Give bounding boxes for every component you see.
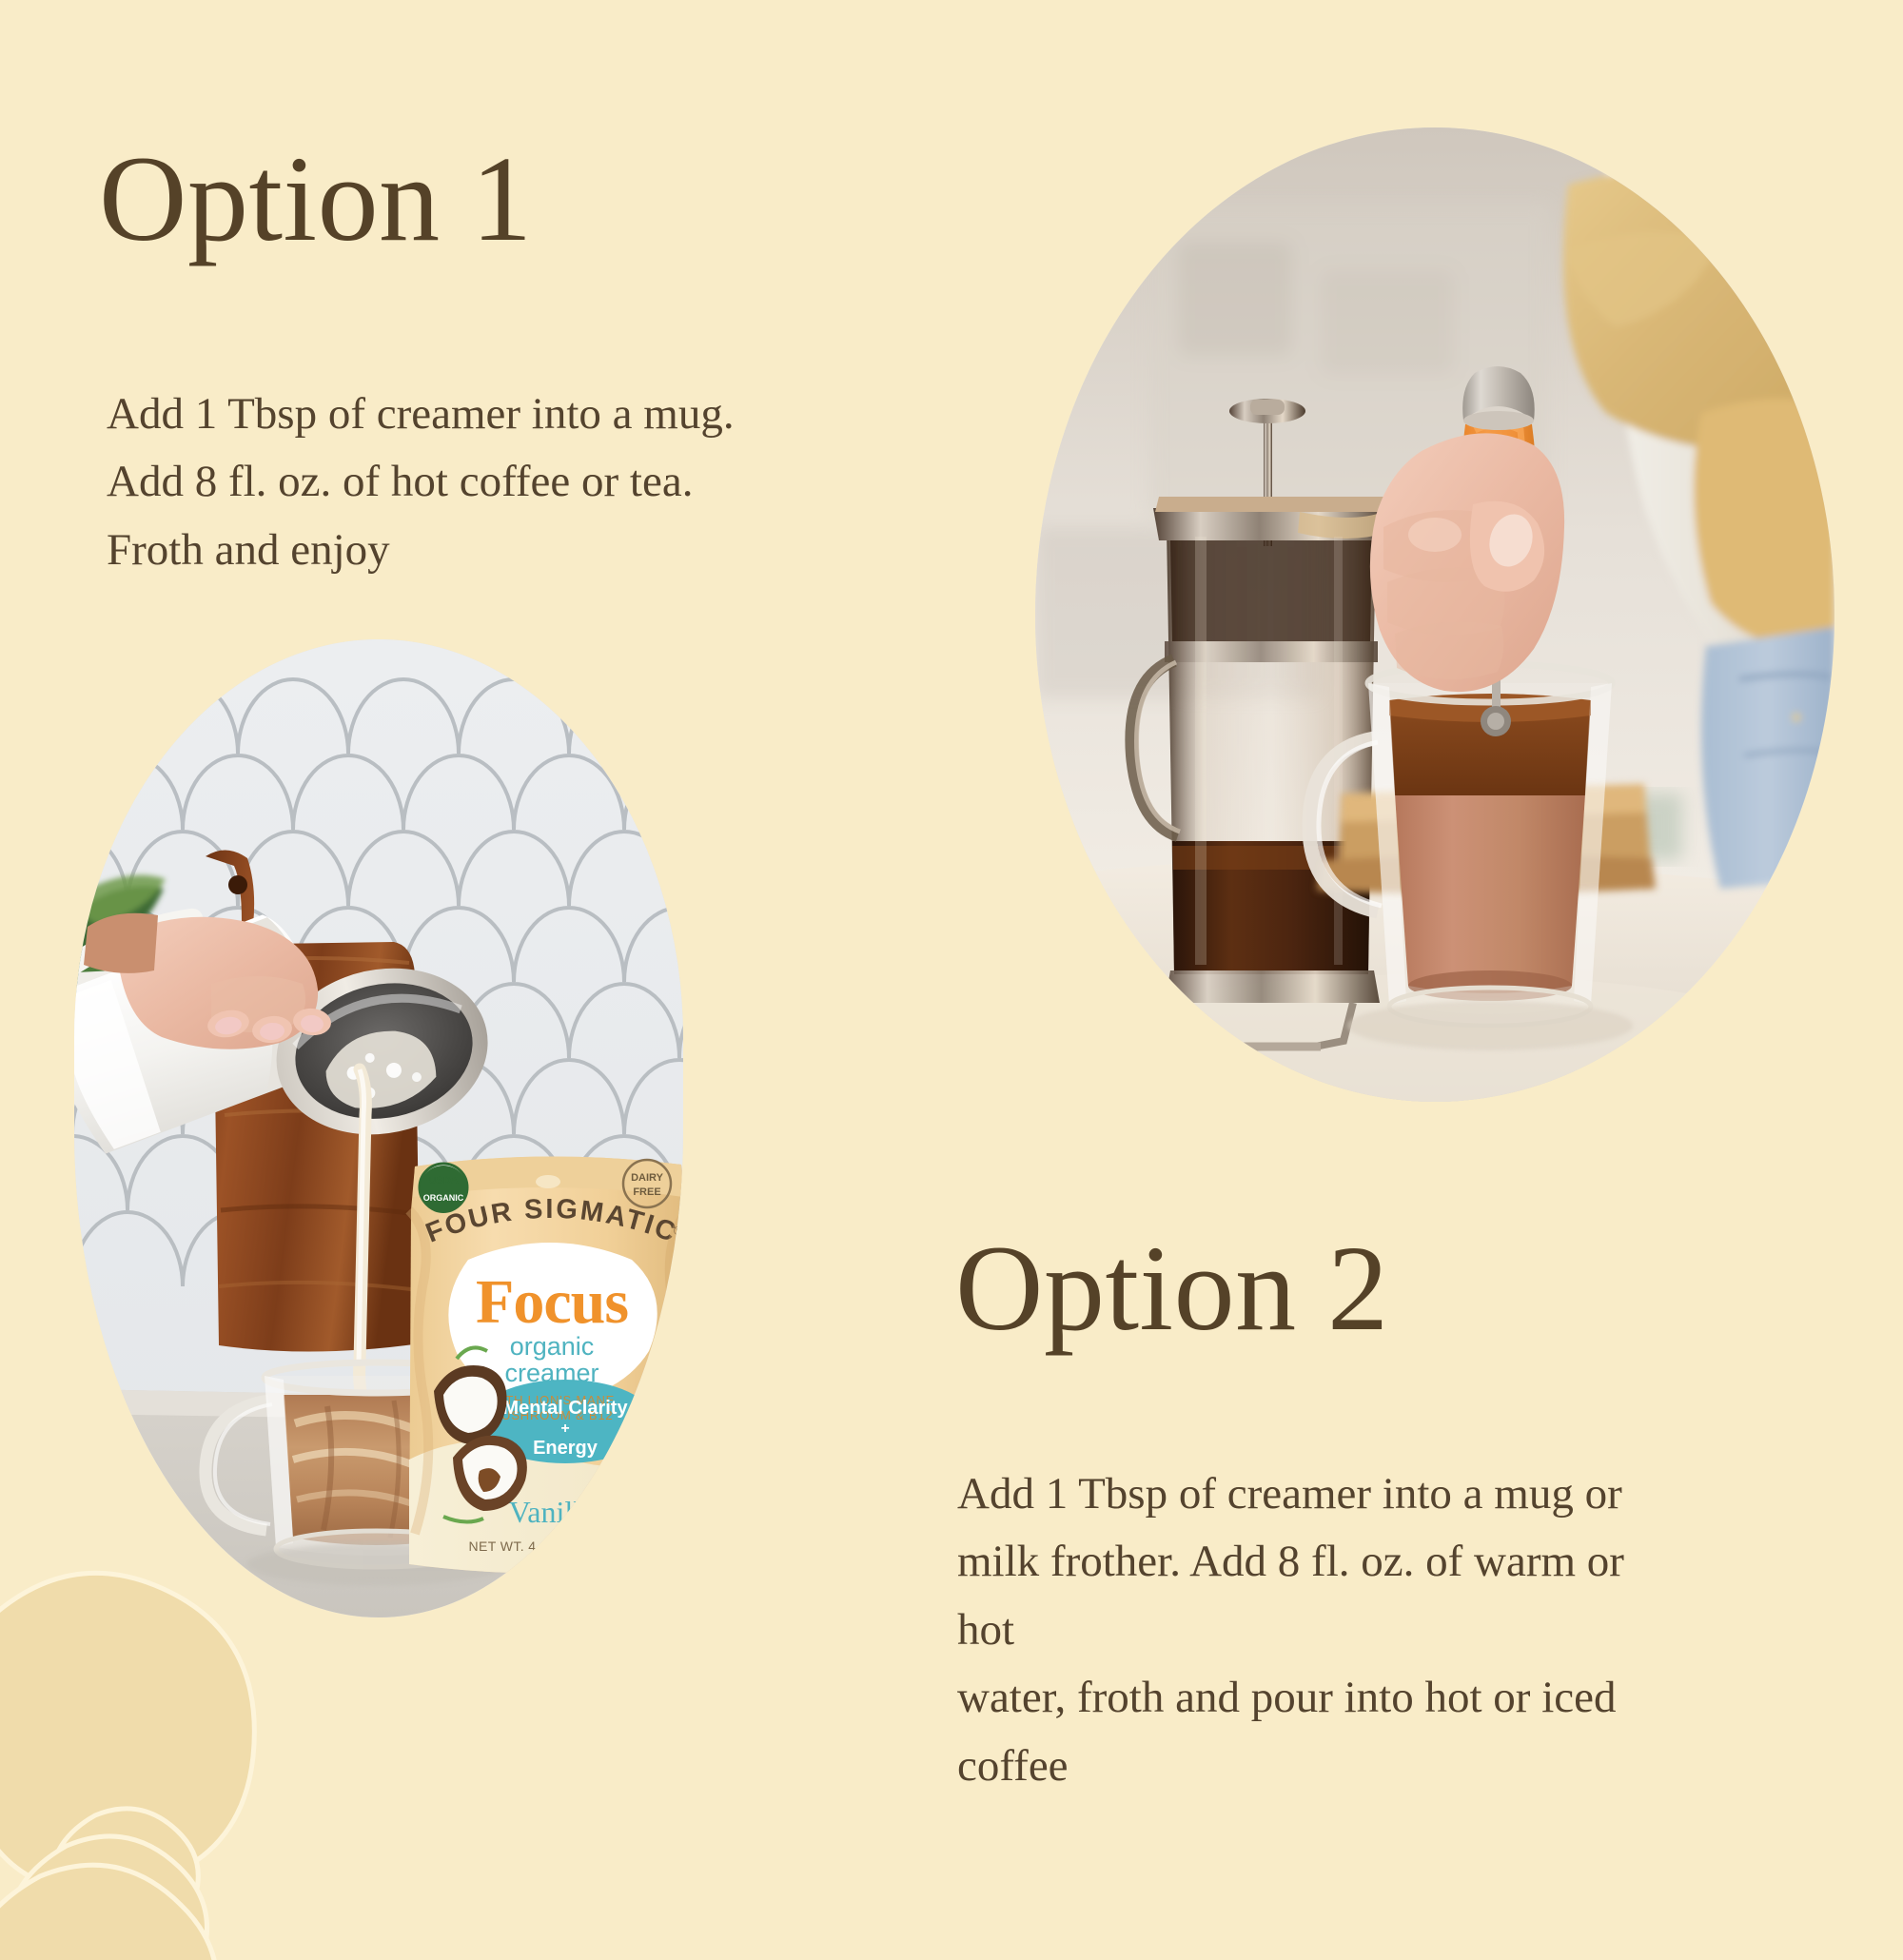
option-1-line-2: Add 8 fl. oz. of hot coffee or tea. <box>107 448 849 516</box>
usda-organic-badge: USDA ORGANIC <box>420 1164 467 1213</box>
svg-text:ORGANIC: ORGANIC <box>423 1193 464 1203</box>
product-name-text: Focus <box>476 1267 628 1337</box>
product-flavor-text: Vanilla <box>509 1495 596 1529</box>
product-net-weight-text: NET WT. 4.23 OZ. (120 G) <box>468 1539 635 1554</box>
svg-text:FREE: FREE <box>633 1186 660 1198</box>
decorative-flower-line-art <box>0 1551 343 1960</box>
option-2-line-4: coffee <box>957 1733 1642 1800</box>
option-1-body: Add 1 Tbsp of creamer into a mug. Add 8 … <box>107 381 849 584</box>
option-2-body: Add 1 Tbsp of creamer into a mug or milk… <box>957 1460 1642 1800</box>
option-2-line-3: water, froth and pour into hot or iced <box>957 1664 1642 1732</box>
svg-text:USDA: USDA <box>428 1175 458 1186</box>
product-benefit-plus: + <box>560 1421 569 1437</box>
product-subtitle-line2: creamer <box>504 1359 598 1387</box>
option-2-line-1: Add 1 Tbsp of creamer into a mug or <box>957 1460 1642 1528</box>
product-benefit-line1: Mental Clarity <box>502 1398 628 1419</box>
photo-option-1-frothing: FOUR SIGMATIC <box>1035 127 1834 1102</box>
product-subtitle-line1: organic <box>510 1332 595 1361</box>
svg-text:DAIRY: DAIRY <box>631 1172 663 1184</box>
photo-option-2-pouring: FOUR SIGMATIC ® Focus organic creamer WI… <box>74 639 683 1617</box>
option-2-line-2: milk frother. Add 8 fl. oz. of warm or h… <box>957 1528 1642 1664</box>
option-1-line-3: Froth and enjoy <box>107 517 849 584</box>
option-2-heading: Option 2 <box>955 1227 1389 1349</box>
product-benefit-line2: Energy <box>533 1438 598 1459</box>
option-1-heading: Option 1 <box>99 138 533 260</box>
poster-canvas: FOUR SIGMATIC <box>0 0 1903 1903</box>
option-1-line-1: Add 1 Tbsp of creamer into a mug. <box>107 381 849 448</box>
